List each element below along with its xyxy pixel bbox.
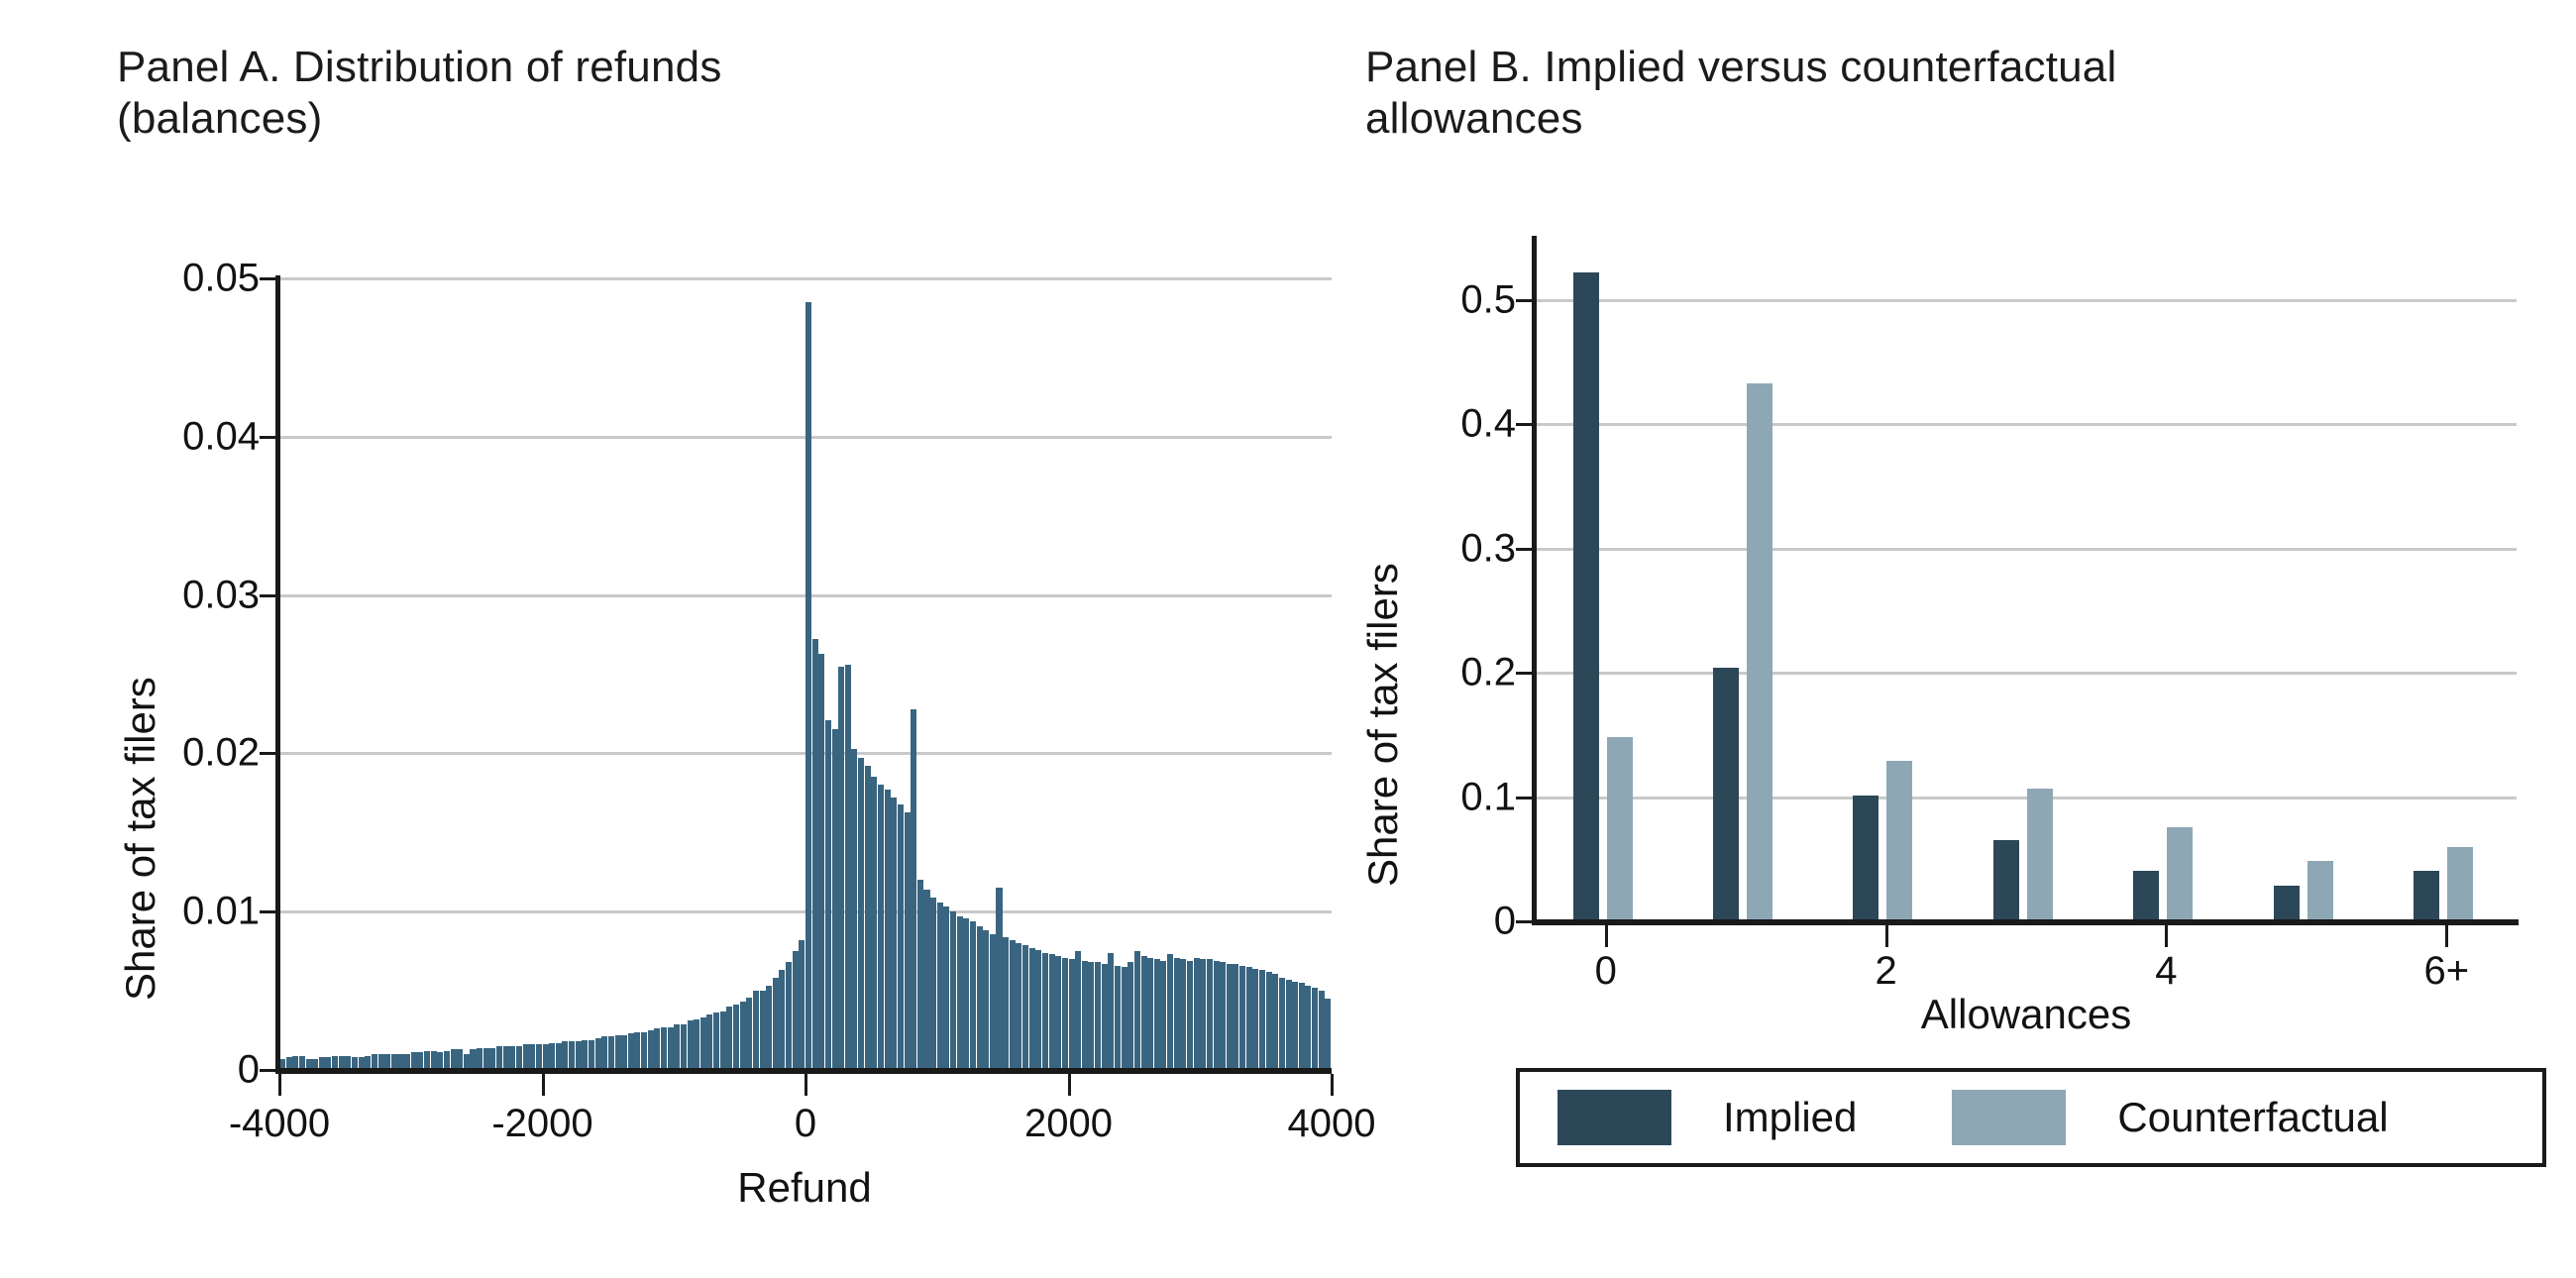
histogram-bar — [799, 940, 805, 1070]
bar-implied-2 — [1853, 796, 1878, 921]
histogram-bar — [911, 709, 916, 1070]
x-tick-label: 0 — [795, 1102, 816, 1146]
gridline — [1536, 299, 2517, 302]
histogram-bar — [1095, 962, 1101, 1070]
histogram-bar — [805, 302, 811, 1070]
histogram-bar — [851, 749, 857, 1070]
histogram-bar — [1022, 945, 1028, 1070]
x-tick-label: 6+ — [2423, 949, 2469, 994]
histogram-bar — [818, 654, 824, 1070]
histogram-bar — [706, 1014, 712, 1070]
histogram-bar — [523, 1044, 529, 1070]
y-tick-label: 0.05 — [182, 257, 260, 301]
panel-a-x-axis-title: Refund — [737, 1164, 871, 1212]
histogram-bar — [509, 1046, 515, 1070]
histogram-bar — [838, 667, 844, 1070]
x-tick-label: 2000 — [1024, 1102, 1113, 1146]
bar-implied-6+ — [2414, 871, 2439, 921]
histogram-bar — [753, 991, 759, 1070]
histogram-bar — [516, 1046, 522, 1070]
legend-swatch-implied — [1557, 1090, 1671, 1145]
y-tick-label: 0.04 — [182, 414, 260, 459]
histogram-bar — [549, 1043, 555, 1070]
panel-a-y-axis-title: Share of tax filers — [117, 677, 164, 1001]
histogram-bar — [1180, 959, 1186, 1070]
histogram-bar — [996, 888, 1002, 1070]
bar-counterfactual-2 — [1886, 761, 1912, 921]
x-tick-label: 0 — [1595, 949, 1617, 994]
histogram-bar — [1075, 951, 1081, 1070]
histogram-bar — [1035, 950, 1041, 1070]
bar-implied-1 — [1713, 668, 1739, 921]
histogram-bar — [569, 1041, 575, 1070]
panel-a: Panel A. Distribution of refunds (balanc… — [0, 0, 1298, 1278]
histogram-bar — [496, 1046, 502, 1070]
histogram-bar — [694, 1019, 699, 1070]
histogram-bar — [923, 890, 929, 1070]
histogram-bar — [1042, 953, 1048, 1070]
gridline — [279, 277, 1332, 280]
histogram-bar — [1115, 966, 1121, 1070]
histogram-bar — [1122, 967, 1127, 1070]
histogram-bar — [1160, 961, 1166, 1070]
histogram-bar — [1147, 958, 1153, 1070]
histogram-bar — [654, 1028, 660, 1070]
histogram-bar — [1239, 966, 1245, 1070]
bar-implied-4 — [2133, 871, 2159, 921]
y-tick-label: 0.03 — [182, 573, 260, 617]
y-tick-label: 0.01 — [182, 890, 260, 934]
panel-b-x-axis-title: Allowances — [1921, 991, 2131, 1038]
histogram-bar — [740, 1002, 746, 1070]
histogram-bar — [700, 1017, 706, 1070]
y-tick-label: 0 — [1494, 900, 1516, 944]
histogram-bar — [845, 665, 851, 1070]
legend-entry-counterfactual[interactable]: Counterfactual — [1952, 1090, 2388, 1145]
gridline — [1536, 672, 2517, 675]
histogram-bar — [1108, 953, 1114, 1070]
histogram-bar — [1102, 964, 1108, 1070]
legend-label: Implied — [1723, 1094, 1857, 1141]
x-tick-mark — [2445, 925, 2448, 947]
histogram-bar — [963, 918, 969, 1070]
x-tick-mark — [278, 1074, 281, 1096]
histogram-bar — [595, 1038, 601, 1070]
histogram-bar — [661, 1027, 667, 1070]
histogram-bar — [1049, 954, 1055, 1070]
histogram-bar — [760, 991, 766, 1070]
gridline — [1536, 423, 2517, 426]
histogram-bar — [634, 1032, 640, 1070]
y-tick-label: 0.1 — [1460, 775, 1516, 819]
bar-counterfactual-0 — [1607, 737, 1633, 921]
histogram-bar — [470, 1049, 476, 1070]
histogram-bar — [1069, 959, 1075, 1070]
histogram-bar — [589, 1040, 594, 1070]
histogram-bar — [1016, 943, 1021, 1070]
histogram-bar — [1141, 956, 1147, 1070]
histogram-bar — [1227, 964, 1233, 1070]
x-tick-mark — [542, 1074, 545, 1096]
y-tick-label: 0.5 — [1460, 277, 1516, 322]
histogram-bar — [905, 812, 911, 1070]
histogram-bar — [865, 766, 871, 1070]
histogram-bar — [628, 1033, 634, 1070]
panel-a-y-axis-line — [275, 275, 280, 1074]
histogram-bar — [970, 921, 976, 1070]
bar-counterfactual-5 — [2308, 861, 2333, 921]
histogram-bar — [990, 934, 996, 1070]
figure-root: Panel A. Distribution of refunds (balanc… — [0, 0, 2576, 1278]
x-tick-label: 2 — [1875, 949, 1896, 994]
gridline — [1536, 548, 2517, 551]
panel-b-y-axis-title: Share of tax filers — [1359, 563, 1407, 887]
x-tick-label: -2000 — [491, 1102, 592, 1146]
histogram-bar — [812, 639, 818, 1070]
histogram-bar — [648, 1030, 654, 1070]
histogram-bar — [681, 1024, 687, 1070]
histogram-bar — [825, 720, 831, 1070]
bar-implied-3 — [1993, 840, 2019, 921]
histogram-bar — [1214, 961, 1220, 1070]
histogram-bar — [688, 1020, 694, 1070]
y-tick-label: 0.3 — [1460, 526, 1516, 571]
histogram-bar — [641, 1032, 647, 1070]
x-tick-label: -4000 — [229, 1102, 330, 1146]
histogram-bar — [930, 898, 936, 1070]
x-tick-mark — [805, 1074, 807, 1096]
histogram-bar — [451, 1049, 457, 1070]
histogram-bar — [503, 1046, 509, 1070]
histogram-bar — [1134, 951, 1140, 1070]
histogram-bar — [562, 1041, 568, 1070]
histogram-bar — [615, 1035, 621, 1070]
histogram-bar — [773, 978, 779, 1070]
bar-counterfactual-1 — [1747, 383, 1772, 921]
x-tick-mark — [1605, 925, 1608, 947]
histogram-bar — [457, 1049, 463, 1070]
x-tick-mark — [1885, 925, 1888, 947]
histogram-bar — [917, 880, 923, 1070]
x-tick-mark — [1068, 1074, 1071, 1096]
y-tick-label: 0.2 — [1460, 651, 1516, 695]
histogram-bar — [1082, 961, 1088, 1070]
histogram-bar — [1127, 962, 1133, 1070]
histogram-bar — [1259, 970, 1265, 1070]
panel-b-plot-area — [1536, 238, 2517, 921]
histogram-bar — [576, 1041, 582, 1070]
histogram-bar — [1252, 969, 1258, 1070]
histogram-bar — [793, 951, 799, 1070]
histogram-bar — [1246, 967, 1252, 1070]
histogram-bar — [943, 906, 949, 1070]
histogram-bar — [713, 1012, 719, 1070]
histogram-bar — [720, 1012, 726, 1070]
histogram-bar — [1010, 940, 1016, 1070]
histogram-bar — [483, 1048, 489, 1070]
histogram-bar — [832, 729, 838, 1070]
histogram-bar — [937, 903, 943, 1070]
histogram-bar — [1207, 959, 1213, 1070]
histogram-bar — [898, 804, 904, 1070]
panel-b-x-axis-line — [1532, 919, 2519, 925]
legend-entry-implied[interactable]: Implied — [1557, 1090, 1857, 1145]
histogram-bar — [1029, 948, 1035, 1070]
panel-b: Panel B. Implied versus counterfactual a… — [1298, 0, 2576, 1278]
histogram-bar — [608, 1036, 614, 1070]
histogram-bar — [477, 1048, 483, 1070]
legend-swatch-counterfactual — [1952, 1090, 2066, 1145]
histogram-bar — [556, 1043, 562, 1070]
histogram-bar — [1055, 956, 1061, 1070]
histogram-bar — [766, 986, 772, 1070]
histogram-bar — [957, 916, 963, 1070]
histogram-bar — [1174, 958, 1180, 1070]
histogram-bar — [543, 1044, 549, 1070]
histogram-bar — [950, 911, 956, 1070]
histogram-bar — [1266, 972, 1272, 1070]
histogram-bar — [786, 962, 792, 1070]
histogram-bar — [536, 1044, 542, 1070]
histogram-bar — [1200, 959, 1206, 1070]
bar-counterfactual-3 — [2027, 789, 2053, 921]
panel-a-x-axis-line — [275, 1068, 1332, 1074]
histogram-bar — [1003, 937, 1009, 1070]
histogram-bar — [601, 1036, 607, 1070]
histogram-bar — [858, 758, 864, 1070]
panel-b-title: Panel B. Implied versus counterfactual a… — [1365, 42, 2534, 145]
histogram-bar — [1286, 980, 1292, 1070]
histogram-bar — [1187, 961, 1193, 1070]
histogram-bar — [1154, 959, 1160, 1070]
histogram-bar — [1220, 962, 1226, 1070]
histogram-bar — [779, 970, 785, 1070]
histogram-bar — [1194, 958, 1200, 1070]
x-tick-label: 4 — [2155, 949, 2177, 994]
bar-implied-5 — [2274, 886, 2300, 921]
x-tick-mark — [2165, 925, 2168, 947]
bar-counterfactual-4 — [2167, 827, 2193, 921]
histogram-bar — [1233, 964, 1238, 1070]
histogram-bar — [977, 926, 983, 1070]
histogram-bar — [1088, 962, 1094, 1070]
histogram-bar — [1062, 958, 1068, 1070]
panel-a-plot-area — [279, 278, 1332, 1070]
histogram-bar — [733, 1005, 739, 1070]
histogram-bar — [668, 1027, 674, 1070]
legend-label: Counterfactual — [2117, 1094, 2388, 1141]
histogram-bar — [746, 998, 752, 1071]
histogram-bar — [1167, 954, 1173, 1070]
histogram-bar — [674, 1024, 680, 1070]
histogram-bar — [621, 1035, 627, 1070]
histogram-bar — [582, 1040, 588, 1070]
panel-b-y-axis-line — [1532, 236, 1537, 923]
histogram-bar — [885, 790, 891, 1070]
panel-a-title: Panel A. Distribution of refunds (balanc… — [117, 42, 1207, 145]
histogram-bar — [726, 1007, 732, 1070]
y-tick-label: 0.02 — [182, 731, 260, 776]
histogram-bar — [529, 1044, 535, 1070]
bar-counterfactual-6+ — [2447, 847, 2473, 921]
histogram-bar — [871, 777, 877, 1070]
histogram-bar — [1272, 974, 1278, 1070]
bar-implied-0 — [1573, 272, 1599, 921]
histogram-bar — [489, 1048, 495, 1070]
histogram-bar — [891, 798, 897, 1070]
histogram-bar — [1279, 978, 1285, 1070]
histogram-bar — [983, 930, 989, 1070]
histogram-bar — [878, 785, 884, 1070]
panel-b-legend: ImpliedCounterfactual — [1516, 1068, 2546, 1167]
y-tick-label: 0.4 — [1460, 402, 1516, 447]
y-tick-label: 0 — [238, 1048, 260, 1093]
